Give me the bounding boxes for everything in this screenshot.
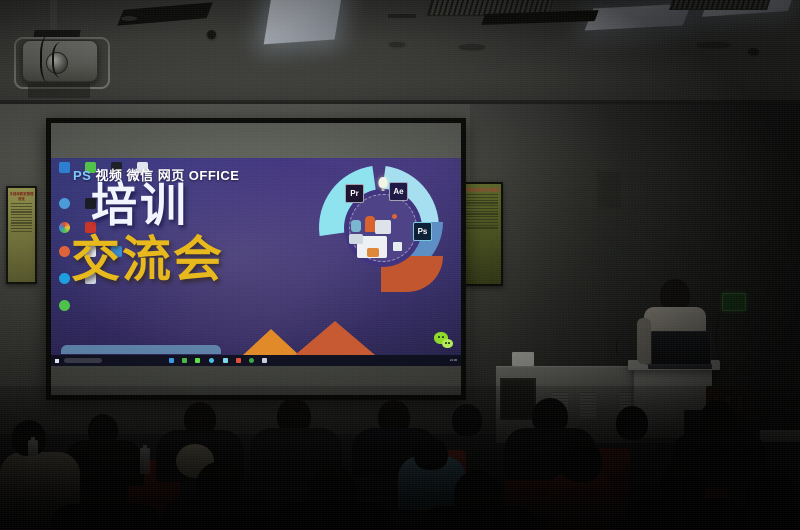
audience-shoulders [50, 504, 162, 530]
decor-mountain [243, 329, 299, 355]
audience-shoulders [716, 506, 800, 530]
cabinet-louver [580, 392, 596, 418]
emergency-exit-sign [722, 293, 746, 311]
illustration-plant [351, 220, 361, 232]
projector-pole-mount [50, 0, 57, 32]
illustration-dot [392, 214, 397, 219]
taskbar-clock: 21:06 [450, 358, 457, 363]
decor-mountain [295, 321, 375, 355]
smoke-detector-icon [697, 42, 731, 47]
smoke-detector-icon [121, 16, 137, 21]
presenter-laptop[interactable] [651, 331, 711, 367]
presenter-arm [637, 318, 651, 364]
pdf-icon[interactable] [236, 358, 241, 363]
ceiling-dome-camera-icon [748, 48, 759, 55]
store-icon[interactable] [195, 358, 200, 363]
cabinet-recess [500, 378, 536, 420]
audience-shoulders [162, 498, 278, 530]
desktop-icon-colorwheel[interactable] [59, 222, 70, 233]
smoke-detector-icon [207, 30, 216, 39]
ceiling-light-panel [264, 0, 343, 44]
smoke-detector-icon [389, 42, 405, 46]
edge-icon[interactable] [169, 358, 174, 363]
slide-title-secondary: 交流会 [71, 236, 224, 285]
slide-title-primary: 培训 [91, 182, 189, 228]
desktop-icon-settings[interactable] [59, 198, 70, 209]
doc-icon[interactable] [262, 358, 267, 363]
desktop-icon-qq[interactable] [59, 273, 70, 284]
lightbulb-icon [379, 177, 388, 188]
screen-surface: SCHOOL OF COMPUTER AND CONTROL ENGINEERI… [51, 123, 461, 395]
app-icon[interactable] [249, 358, 254, 363]
projector-shadow [28, 84, 90, 98]
taskbar-search-input[interactable] [64, 358, 102, 363]
projector-cable [52, 42, 74, 78]
illustration-person [365, 216, 375, 232]
audience-shoulders [274, 502, 394, 530]
pen-icon[interactable] [223, 358, 228, 363]
gooseneck-microphone [716, 312, 729, 364]
desktop-icon-browser[interactable] [59, 162, 70, 173]
plaque-title: 多媒体教室管理规定 [8, 191, 35, 201]
audience-head [452, 404, 482, 436]
wall-panel-right [596, 170, 622, 210]
wechat-logo-icon [434, 332, 453, 348]
slide-donut-graphic: Pr Ae Ps [319, 164, 447, 292]
photoshop-icon: Ps [413, 222, 432, 241]
illustration-monitor [375, 220, 391, 234]
slide-headline-prefix: PS [73, 168, 91, 183]
after-effects-icon: Ae [389, 182, 408, 201]
explorer-icon[interactable] [182, 358, 187, 363]
audience-head [616, 406, 648, 440]
audience-head [560, 440, 602, 482]
illustration-camera [349, 234, 363, 244]
water-bottle [28, 440, 38, 464]
left-wall-notice: 多媒体教室管理规定 [6, 186, 37, 284]
chrome-icon[interactable] [209, 358, 214, 363]
side-table [512, 352, 534, 366]
gooseneck-microphone [616, 336, 627, 358]
water-bottle [140, 448, 150, 474]
projection-screen: SCHOOL OF COMPUTER AND CONTROL ENGINEERI… [46, 118, 466, 400]
audience-head [414, 438, 448, 470]
illustration-scissors [393, 242, 402, 251]
side-table-right [760, 430, 800, 442]
decor-ribbon [61, 345, 221, 354]
projected-slide: SCHOOL OF COMPUTER AND CONTROL ENGINEERI… [51, 158, 461, 366]
audience-shoulders [420, 506, 538, 530]
windows-taskbar[interactable]: 21:06 [51, 355, 461, 366]
start-button-icon[interactable] [55, 359, 59, 363]
air-vent [669, 0, 773, 10]
smoke-detector-icon [459, 44, 485, 49]
premiere-pro-icon: Pr [345, 184, 364, 203]
desktop-icon-download[interactable] [59, 246, 70, 257]
desktop-icon-chat[interactable] [59, 300, 70, 311]
illustration-play-button [367, 248, 379, 257]
lecture-hall-photo: 多媒体教室管理规定 教室使用规定及注意事项 SCHOOL OF COMPUTER… [0, 0, 800, 530]
plaque-title: 教室使用规定及注意事项 [461, 187, 501, 192]
ceiling-slot [388, 14, 416, 18]
laptop-keyboard[interactable] [648, 364, 712, 369]
